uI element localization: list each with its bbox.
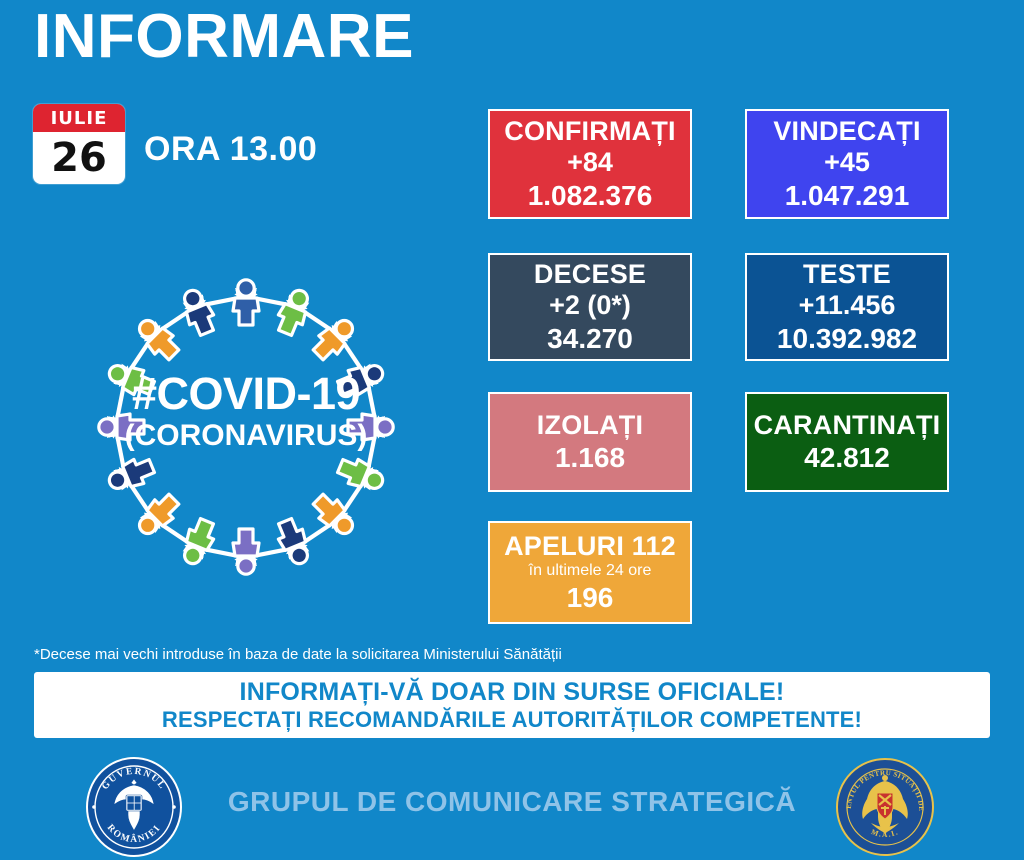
person-figure bbox=[273, 516, 314, 568]
person-figure bbox=[273, 286, 314, 338]
stat-label: IZOLAȚI bbox=[537, 410, 643, 442]
stat-delta: +45 bbox=[824, 147, 870, 179]
stat-label: TESTE bbox=[803, 259, 891, 291]
dsu-logo: DEPARTAMENTUL PENTRU SITUAȚII DE URGENȚĂ… bbox=[833, 757, 937, 857]
stat-box-confirmati: CONFIRMAȚI +84 1.082.376 bbox=[488, 109, 692, 219]
stat-total: 42.812 bbox=[804, 441, 890, 474]
stat-total: 10.392.982 bbox=[777, 322, 917, 355]
stat-box-carantinati: CARANTINAȚI 42.812 bbox=[745, 392, 949, 492]
stat-note: în ultimele 24 ore bbox=[529, 562, 652, 581]
hour-label: ORA 13.00 bbox=[144, 130, 317, 169]
person-figure bbox=[178, 286, 219, 338]
person-figure bbox=[178, 516, 219, 568]
footnote: *Decese mai vechi introduse în baza de d… bbox=[34, 646, 562, 663]
stat-total: 1.047.291 bbox=[785, 179, 910, 212]
person-figure bbox=[335, 454, 387, 495]
person-figure bbox=[233, 529, 259, 574]
people-circle-svg bbox=[36, 222, 456, 632]
people-circle-graphic: #COVID-19 (CORONAVIRUS) bbox=[36, 222, 456, 632]
stat-label: CARANTINAȚI bbox=[754, 410, 941, 442]
person-figure bbox=[105, 359, 157, 400]
stat-box-decese: DECESE +2 (0*) 34.270 bbox=[488, 253, 692, 361]
official-sources-banner: INFORMAȚI-VĂ DOAR DIN SURSE OFICIALE! RE… bbox=[34, 672, 990, 738]
stat-total: 34.270 bbox=[547, 322, 633, 355]
stat-total: 196 bbox=[567, 581, 614, 614]
stat-delta: +84 bbox=[567, 147, 613, 179]
person-figure bbox=[233, 280, 259, 325]
stat-label: APELURI 112 bbox=[504, 531, 676, 563]
stat-total: 1.082.376 bbox=[528, 179, 653, 212]
banner-line-1: INFORMAȚI-VĂ DOAR DIN SURSE OFICIALE! bbox=[240, 678, 785, 707]
page-title: INFORMARE bbox=[34, 4, 414, 69]
calendar-icon: IULIE 26 bbox=[33, 104, 125, 184]
stat-label: CONFIRMAȚI bbox=[504, 116, 675, 148]
people-figures bbox=[99, 280, 393, 574]
stat-label: DECESE bbox=[534, 259, 646, 291]
stat-box-teste: TESTE +11.456 10.392.982 bbox=[745, 253, 949, 361]
person-figure bbox=[99, 414, 144, 440]
person-figure bbox=[335, 359, 387, 400]
stat-delta: +11.456 bbox=[799, 290, 896, 322]
calendar-month: IULIE bbox=[33, 104, 125, 132]
banner-line-2: RESPECTAȚI RECOMANDĂRILE AUTORITĂȚILOR C… bbox=[162, 707, 862, 732]
informare-poster: INFORMARE IULIE 26 ORA 13.00 bbox=[0, 0, 1024, 860]
dsu-logo-svg: DEPARTAMENTUL PENTRU SITUAȚII DE URGENȚĂ… bbox=[833, 757, 937, 857]
stat-label: VINDECAȚI bbox=[773, 116, 920, 148]
stat-total: 1.168 bbox=[555, 441, 625, 474]
calendar-day: 26 bbox=[33, 132, 125, 184]
person-figure bbox=[348, 414, 393, 440]
stat-box-izolati: IZOLAȚI 1.168 bbox=[488, 392, 692, 492]
stat-delta: +2 (0*) bbox=[549, 290, 631, 322]
person-figure bbox=[105, 454, 157, 495]
stat-box-apeluri: APELURI 112 în ultimele 24 ore 196 bbox=[488, 521, 692, 624]
stat-box-vindecati: VINDECAȚI +45 1.047.291 bbox=[745, 109, 949, 219]
